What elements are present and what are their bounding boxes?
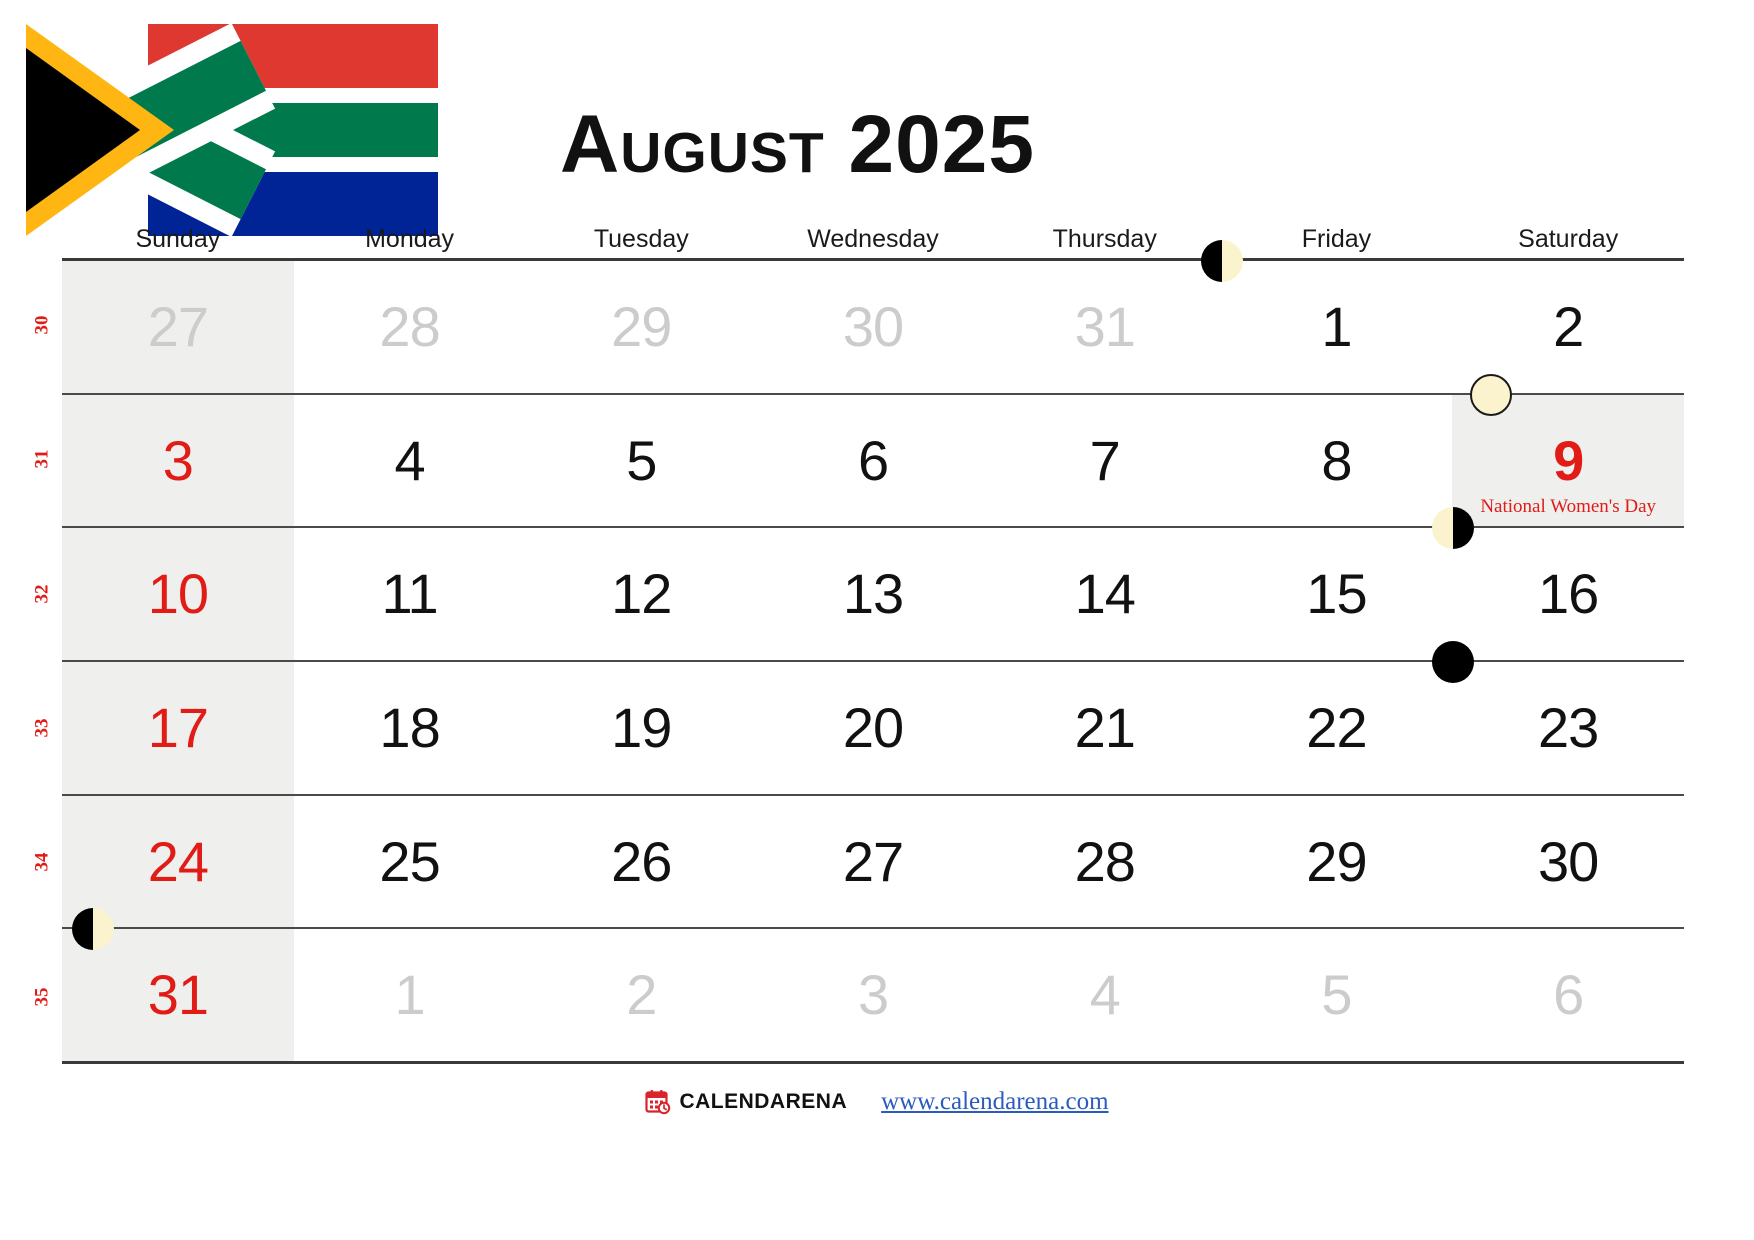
calendar-day-cell[interactable]: 22 <box>1221 662 1453 794</box>
week-number-column: 30 31 32 33 34 35 <box>22 258 62 1064</box>
weekday-header-thursday: Thursday <box>989 222 1221 258</box>
day-number: 7 <box>1090 433 1120 489</box>
website-link[interactable]: www.calendarena.com <box>881 1088 1108 1116</box>
day-number: 22 <box>1306 700 1366 756</box>
calendar-day-cell[interactable]: 5 <box>1221 929 1453 1061</box>
calendar-week-row: 17181920212223 <box>62 662 1684 796</box>
calendar-week-row: 24252627282930 <box>62 796 1684 930</box>
week-number-label: 30 <box>31 316 53 335</box>
calendar-day-cell[interactable]: 1 <box>294 929 526 1061</box>
calendar-day-cell[interactable]: 30 <box>1452 796 1684 928</box>
day-number: 13 <box>843 566 903 622</box>
calendar-day-cell[interactable]: 4 <box>294 395 526 527</box>
weekday-header-monday: Monday <box>294 222 526 258</box>
calendar-day-cell[interactable]: 20 <box>757 662 989 794</box>
day-number: 17 <box>148 700 208 756</box>
calendar-day-cell[interactable]: 10 <box>62 528 294 660</box>
week-number-label: 32 <box>31 584 53 603</box>
week-number-cell: 34 <box>22 795 62 929</box>
day-number: 30 <box>1538 834 1598 890</box>
day-number: 3 <box>163 433 193 489</box>
page-footer: CALENDARENA www.calendarena.com <box>0 1072 1754 1132</box>
calendar-day-cell[interactable]: 29 <box>1221 796 1453 928</box>
brand-name: CALENDARENA <box>679 1090 847 1114</box>
calendar-day-cell[interactable]: 1 <box>1221 261 1453 393</box>
day-number: 28 <box>1075 834 1135 890</box>
day-number: 1 <box>395 967 425 1023</box>
calendar-day-cell[interactable]: 29 <box>525 261 757 393</box>
day-number: 5 <box>1321 967 1351 1023</box>
weekday-header-sunday: Sunday <box>62 222 294 258</box>
calendar-day-cell[interactable]: 31 <box>62 929 294 1061</box>
calendar-day-cell[interactable]: 15 <box>1221 528 1453 660</box>
day-number: 2 <box>1553 299 1583 355</box>
calendar-week-row: 272829303112 <box>62 261 1684 395</box>
calendar-day-cell[interactable]: 7 <box>989 395 1221 527</box>
week-number-label: 34 <box>31 853 53 872</box>
calendar-day-cell[interactable]: 12 <box>525 528 757 660</box>
day-number: 23 <box>1538 700 1598 756</box>
moon-phase-icon <box>1470 374 1512 416</box>
calendar-day-cell[interactable]: 28 <box>294 261 526 393</box>
calendar-day-cell[interactable]: 6 <box>1452 929 1684 1061</box>
day-number: 8 <box>1321 433 1351 489</box>
calendar-day-cell[interactable]: 2 <box>525 929 757 1061</box>
calendar-day-cell[interactable]: 6 <box>757 395 989 527</box>
moon-phase-icon <box>1432 507 1474 549</box>
calendar-day-cell[interactable]: 8 <box>1221 395 1453 527</box>
moon-phase-icon <box>1432 641 1474 683</box>
day-number: 28 <box>379 299 439 355</box>
week-number-cell: 35 <box>22 930 62 1064</box>
weekday-header-friday: Friday <box>1221 222 1453 258</box>
day-number: 31 <box>1075 299 1135 355</box>
calendar-day-cell[interactable]: 23 <box>1452 662 1684 794</box>
calendar-clock-icon <box>645 1089 671 1115</box>
calendar-day-cell[interactable]: 2 <box>1452 261 1684 393</box>
weekday-header-row: Sunday Monday Tuesday Wednesday Thursday… <box>62 222 1684 258</box>
calendar-day-cell[interactable]: 4 <box>989 929 1221 1061</box>
day-number: 14 <box>1075 566 1135 622</box>
day-number: 15 <box>1306 566 1366 622</box>
calendar-day-cell[interactable]: 17 <box>62 662 294 794</box>
day-number: 16 <box>1538 566 1598 622</box>
day-number: 10 <box>148 566 208 622</box>
day-number: 11 <box>382 566 438 622</box>
calendar-day-cell[interactable]: 3 <box>62 395 294 527</box>
day-number: 3 <box>858 967 888 1023</box>
calendar-day-cell[interactable]: 27 <box>757 796 989 928</box>
weekday-header-tuesday: Tuesday <box>525 222 757 258</box>
day-number: 25 <box>379 834 439 890</box>
calendar-day-cell[interactable]: 18 <box>294 662 526 794</box>
day-number: 2 <box>626 967 656 1023</box>
day-number: 9 <box>1553 433 1583 489</box>
moon-phase-icon <box>1201 240 1243 282</box>
calendar-day-cell[interactable]: 21 <box>989 662 1221 794</box>
calendar-day-cell[interactable]: 16 <box>1452 528 1684 660</box>
day-number: 6 <box>1553 967 1583 1023</box>
brand-logo: CALENDARENA <box>645 1089 847 1115</box>
day-number: 18 <box>379 700 439 756</box>
day-number: 27 <box>148 299 208 355</box>
calendar-day-cell[interactable]: 3 <box>757 929 989 1061</box>
calendar-page: August 2025 Sunday Monday Tuesday Wednes… <box>0 0 1754 1240</box>
holiday-label: National Women's Day <box>1456 496 1680 518</box>
week-number-label: 35 <box>31 987 53 1006</box>
day-number: 5 <box>626 433 656 489</box>
calendar-day-cell[interactable]: 26 <box>525 796 757 928</box>
day-number: 24 <box>148 834 208 890</box>
calendar-day-cell[interactable]: 9National Women's Day <box>1452 395 1684 527</box>
calendar-day-cell[interactable]: 27 <box>62 261 294 393</box>
calendar-week-row: 3456789National Women's Day <box>62 395 1684 529</box>
calendar-week-row: 31123456 <box>62 929 1684 1061</box>
day-number: 20 <box>843 700 903 756</box>
day-number: 21 <box>1075 700 1135 756</box>
day-number: 4 <box>1090 967 1120 1023</box>
calendar-day-cell[interactable]: 28 <box>989 796 1221 928</box>
weekday-header-saturday: Saturday <box>1452 222 1684 258</box>
south-africa-flag <box>26 24 438 236</box>
calendar-day-cell[interactable]: 31 <box>989 261 1221 393</box>
week-number-cell: 31 <box>22 392 62 526</box>
calendar-day-cell[interactable]: 14 <box>989 528 1221 660</box>
day-number: 29 <box>1306 834 1366 890</box>
day-number: 19 <box>611 700 671 756</box>
day-number: 1 <box>1321 299 1351 355</box>
day-number: 4 <box>395 433 425 489</box>
weekday-header-wednesday: Wednesday <box>757 222 989 258</box>
day-number: 30 <box>843 299 903 355</box>
day-number: 29 <box>611 299 671 355</box>
flag-black-triangle <box>26 48 140 212</box>
day-number: 26 <box>611 834 671 890</box>
week-number-cell: 33 <box>22 661 62 795</box>
calendar-day-cell[interactable]: 13 <box>757 528 989 660</box>
week-number-label: 31 <box>31 450 53 469</box>
calendar-day-cell[interactable]: 11 <box>294 528 526 660</box>
calendar-day-cell[interactable]: 5 <box>525 395 757 527</box>
day-number: 31 <box>148 967 208 1023</box>
calendar-week-row: 10111213141516 <box>62 528 1684 662</box>
calendar-day-cell[interactable]: 30 <box>757 261 989 393</box>
moon-phase-icon <box>72 908 114 950</box>
calendar-day-cell[interactable]: 19 <box>525 662 757 794</box>
day-number: 27 <box>843 834 903 890</box>
calendar-grid: 2728293031123456789National Women's Day1… <box>62 258 1684 1064</box>
week-number-label: 33 <box>31 719 53 738</box>
calendar-day-cell[interactable]: 25 <box>294 796 526 928</box>
week-number-cell: 32 <box>22 527 62 661</box>
day-number: 12 <box>611 566 671 622</box>
week-number-cell: 30 <box>22 258 62 392</box>
day-number: 6 <box>858 433 888 489</box>
page-title: August 2025 <box>560 98 1460 192</box>
calendar-header: August 2025 <box>0 0 1754 248</box>
